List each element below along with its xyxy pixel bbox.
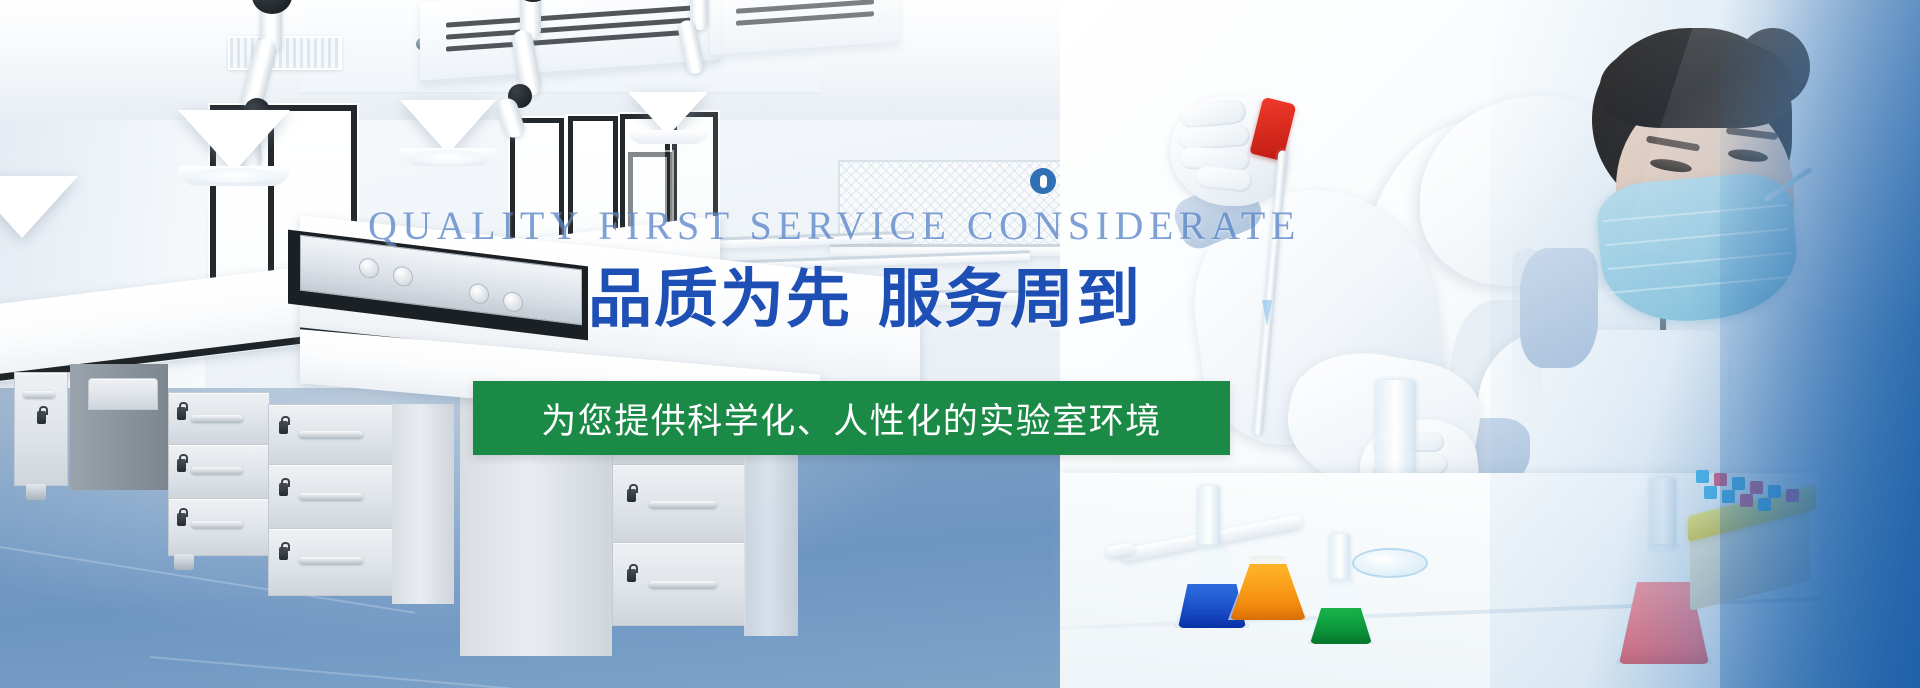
headline: 品质为先服务周到	[588, 248, 1142, 340]
hero-banner: QUALITY FIRST SERVICE CONSIDERATE 品质为先服务…	[0, 0, 1920, 688]
subtitle-bar-text: 为您提供科学化、人性化的实验室环境	[541, 393, 1162, 444]
subtitle-bar: 为您提供科学化、人性化的实验室环境	[473, 381, 1230, 455]
headline-left: 品质为先	[588, 263, 852, 337]
english-tagline: QUALITY FIRST SERVICE CONSIDERATE	[368, 202, 1301, 249]
banner-text-overlay: QUALITY FIRST SERVICE CONSIDERATE 品质为先服务…	[0, 0, 1920, 688]
headline-right: 服务周到	[878, 263, 1142, 337]
